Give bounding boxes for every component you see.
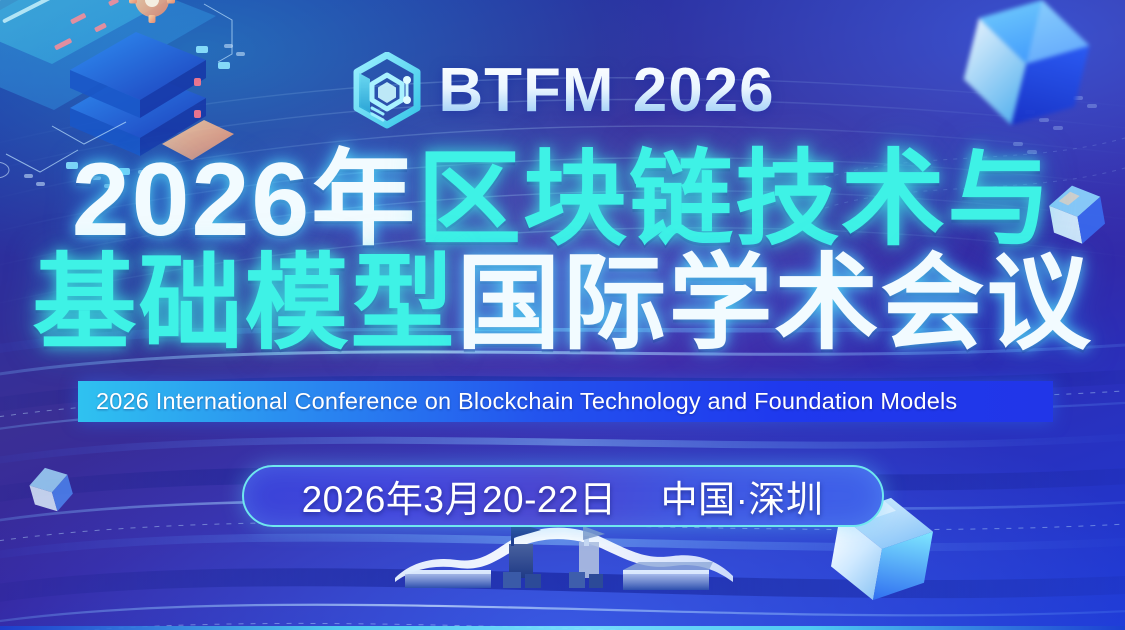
english-subtitle-text: 2026 International Conference on Blockch… [78, 388, 957, 415]
title-line-1-topic: 区块链技术与 [417, 142, 1053, 258]
banner-content: BTFM 2026 2026年区块链技术与 基础模型国际学术会议 2026 In… [0, 0, 1125, 630]
event-date: 2026年3月20-22日 [302, 469, 617, 523]
conference-banner: BTFM 2026 2026年区块链技术与 基础模型国际学术会议 2026 In… [0, 0, 1125, 630]
event-info-pill: 2026年3月20-22日 中国·深圳 [242, 465, 884, 527]
logo-row: BTFM 2026 [0, 52, 1125, 130]
title-line-1-year: 2026年 [72, 142, 417, 258]
title-line-1: 2026年区块链技术与 [0, 148, 1125, 252]
event-location: 中国·深圳 [661, 469, 824, 523]
english-subtitle-band: 2026 International Conference on Blockch… [78, 381, 1053, 422]
title-line-2-topic: 基础模型 [32, 246, 456, 362]
title-line-2-suffix: 国际学术会议 [457, 246, 1093, 362]
title-line-2: 基础模型国际学术会议 [0, 252, 1125, 356]
logo-wordmark: BTFM 2026 [438, 60, 774, 122]
hexagon-blockchain-chip-icon [350, 52, 424, 130]
